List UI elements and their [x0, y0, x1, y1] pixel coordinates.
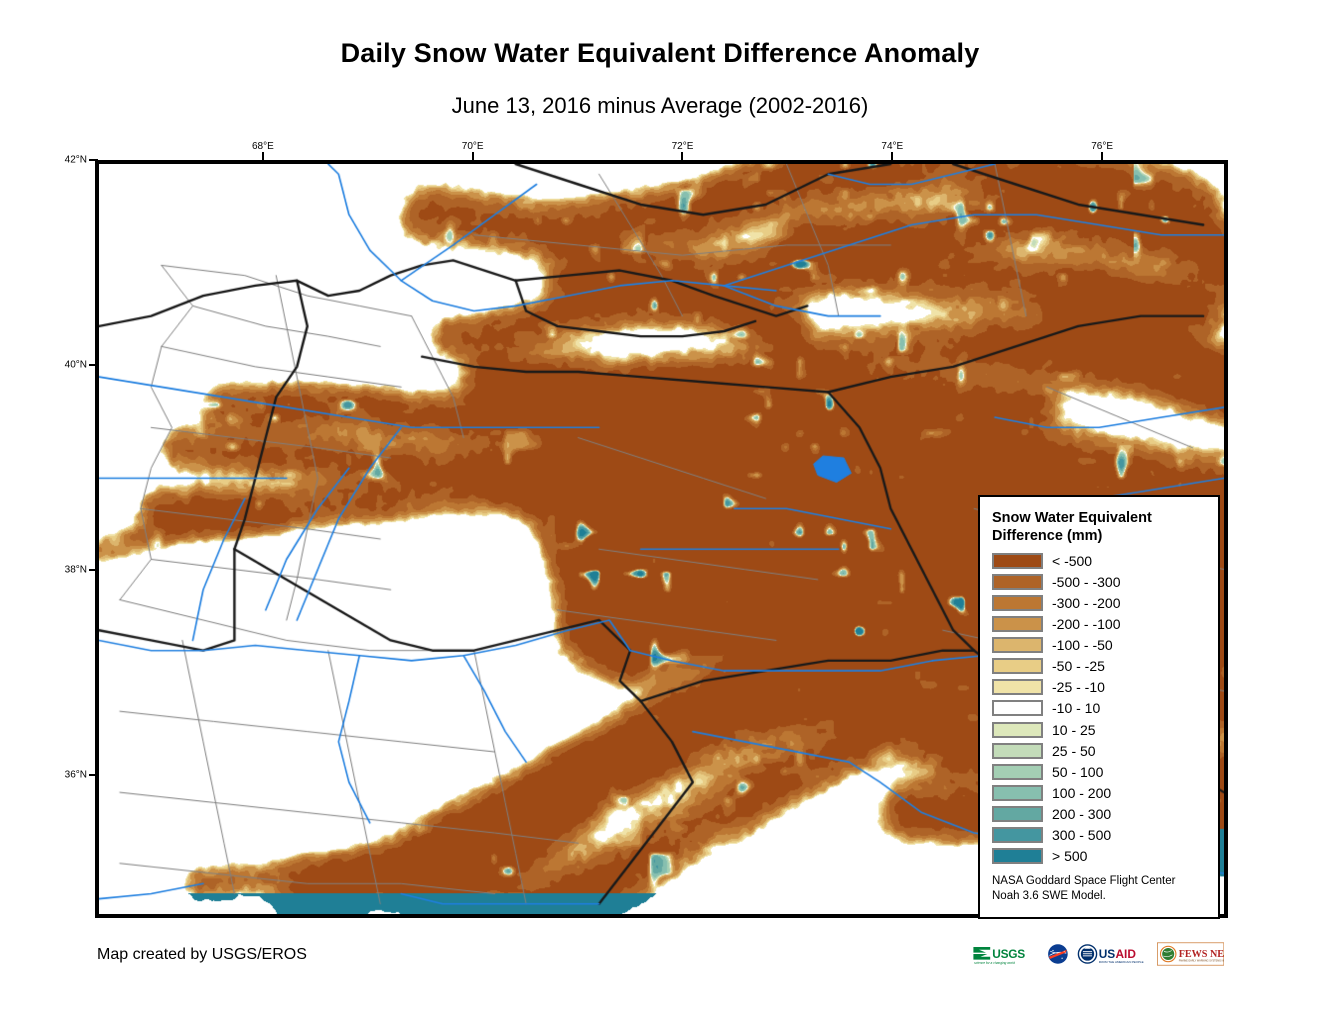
fewsnet-logo: FEWS NET FAMINE EARLY WARNING SYSTEMS NE… — [1157, 938, 1224, 970]
legend-label: 300 - 500 — [1052, 828, 1111, 842]
legend-label: 50 - 100 — [1052, 765, 1103, 779]
lat-tick-label: 38°N — [57, 564, 87, 575]
legend-swatch — [992, 806, 1043, 822]
legend-row: -10 - 10 — [992, 698, 1208, 719]
legend-row: 10 - 25 — [992, 719, 1208, 740]
legend-label: -200 - -100 — [1052, 617, 1120, 631]
lon-tick-label: 72°E — [672, 141, 694, 152]
legend-label: -50 - -25 — [1052, 659, 1105, 673]
legend-row: -500 - -300 — [992, 571, 1208, 592]
page-title: Daily Snow Water Equivalent Difference A… — [0, 38, 1320, 69]
map-credit: Map created by USGS/EROS — [97, 946, 307, 964]
legend-row: 25 - 50 — [992, 740, 1208, 761]
legend-label: 100 - 200 — [1052, 786, 1111, 800]
legend-label: 25 - 50 — [1052, 744, 1096, 758]
legend-row: -200 - -100 — [992, 614, 1208, 635]
legend-label: -100 - -50 — [1052, 638, 1113, 652]
legend-row: 50 - 100 — [992, 761, 1208, 782]
lon-tick-label: 76°E — [1091, 141, 1113, 152]
lat-tick-label: 42°N — [57, 155, 87, 166]
legend-label: -300 - -200 — [1052, 596, 1120, 610]
legend-row: -25 - -10 — [992, 677, 1208, 698]
page-subtitle: June 13, 2016 minus Average (2002-2016) — [0, 93, 1320, 119]
legend-label: -25 - -10 — [1052, 680, 1105, 694]
svg-text:US: US — [1099, 947, 1116, 961]
lat-tick-label: 36°N — [57, 769, 87, 780]
usgs-logo: USGS science for a changing world — [972, 938, 1039, 970]
svg-text:FAMINE EARLY WARNING SYSTEMS N: FAMINE EARLY WARNING SYSTEMS NETWORK — [1178, 960, 1224, 963]
usaid-logo: US AID FROM THE AMERICAN PEOPLE — [1077, 938, 1150, 970]
legend-swatch — [992, 764, 1043, 780]
map-legend: Snow Water Equivalent Difference (mm) < … — [978, 495, 1220, 919]
legend-row: 300 - 500 — [992, 824, 1208, 845]
legend-title: Snow Water Equivalent Difference (mm) — [992, 509, 1208, 545]
map-page: Daily Snow Water Equivalent Difference A… — [0, 0, 1320, 1020]
legend-swatch — [992, 700, 1043, 716]
lon-tick-label: 68°E — [252, 141, 274, 152]
legend-swatch — [992, 785, 1043, 801]
legend-row: -100 - -50 — [992, 635, 1208, 656]
legend-swatch — [992, 658, 1043, 674]
legend-swatch — [992, 743, 1043, 759]
legend-row: < -500 — [992, 550, 1208, 571]
legend-class-list: < -500-500 - -300-300 - -200-200 - -100-… — [992, 550, 1208, 866]
legend-label: 200 - 300 — [1052, 807, 1111, 821]
svg-text:FEWS NET: FEWS NET — [1178, 949, 1224, 960]
legend-swatch — [992, 722, 1043, 738]
svg-text:AID: AID — [1115, 947, 1136, 961]
legend-row: 200 - 300 — [992, 803, 1208, 824]
legend-swatch — [992, 637, 1043, 653]
svg-text:science for a changing world: science for a changing world — [974, 961, 1015, 965]
logo-strip: USGS science for a changing world US — [972, 936, 1224, 972]
lat-tick-label: 40°N — [57, 359, 87, 370]
legend-label: -10 - 10 — [1052, 701, 1100, 715]
legend-swatch — [992, 553, 1043, 569]
svg-text:USGS: USGS — [992, 947, 1025, 961]
legend-label: -500 - -300 — [1052, 575, 1120, 589]
legend-swatch — [992, 574, 1043, 590]
legend-label: < -500 — [1052, 554, 1092, 568]
lon-tick-label: 74°E — [881, 141, 903, 152]
lon-tick-label: 70°E — [462, 141, 484, 152]
legend-swatch — [992, 616, 1043, 632]
legend-swatch — [992, 679, 1043, 695]
legend-source-note: NASA Goddard Space Flight Center Noah 3.… — [992, 874, 1208, 905]
legend-swatch — [992, 827, 1043, 843]
legend-swatch — [992, 848, 1043, 864]
legend-row: -300 - -200 — [992, 592, 1208, 613]
legend-label: 10 - 25 — [1052, 723, 1096, 737]
nasa-logo — [1046, 938, 1070, 970]
legend-swatch — [992, 595, 1043, 611]
legend-row: 100 - 200 — [992, 782, 1208, 803]
legend-row: > 500 — [992, 846, 1208, 867]
svg-text:FROM THE AMERICAN PEOPLE: FROM THE AMERICAN PEOPLE — [1099, 960, 1144, 964]
legend-label: > 500 — [1052, 849, 1087, 863]
legend-row: -50 - -25 — [992, 656, 1208, 677]
